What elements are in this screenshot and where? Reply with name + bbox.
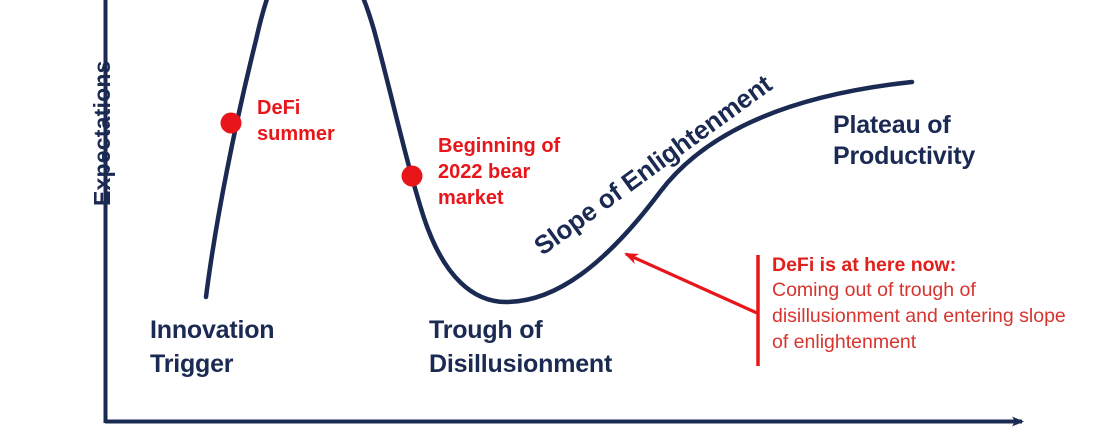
marker-label-bear-line2: 2022 bear (438, 160, 530, 184)
callout-arrow (626, 254, 757, 313)
marker-label-bear-line1: Beginning of (438, 134, 560, 158)
phase-label-trough-line2: Disillusionment (429, 350, 612, 378)
phase-label-innovation-trigger-line2: Trigger (150, 350, 233, 378)
marker-dot-defi-summer (221, 113, 242, 134)
y-axis-title: Expectations (90, 60, 116, 206)
phase-label-plateau-line1: Plateau of (833, 111, 950, 139)
marker-label-bear-line3: market (438, 186, 504, 210)
phase-label-plateau-line2: Productivity (833, 142, 975, 170)
hype-cycle-figure: Expectations Innovation Trigger Trough o… (0, 0, 1100, 440)
phase-label-trough-line1: Trough of (429, 316, 542, 344)
marker-label-defi-summer-line1: DeFi (257, 96, 300, 120)
marker-label-defi-summer-line2: summer (257, 122, 335, 146)
callout-block: DeFi is at here now: Coming out of troug… (772, 252, 1077, 356)
phase-label-innovation-trigger-line1: Innovation (150, 316, 274, 344)
callout-body: Coming out of trough of disillusionment … (772, 278, 1077, 356)
callout-heading: DeFi is at here now: (772, 252, 1077, 278)
marker-dot-bear-market (402, 166, 423, 187)
